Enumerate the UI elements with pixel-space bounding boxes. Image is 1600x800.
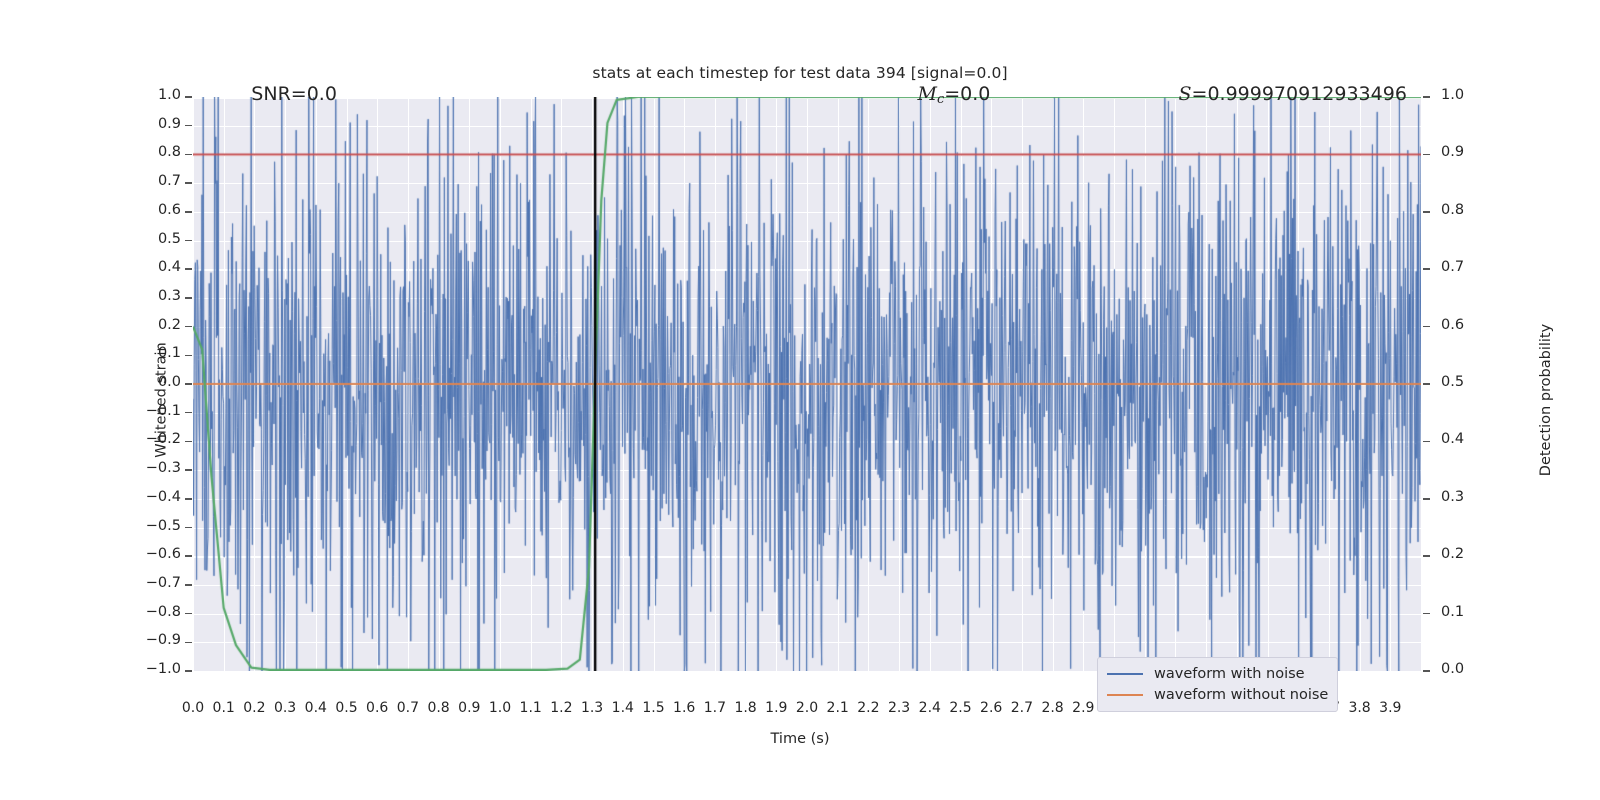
y-axis-left-tick-label: −1.0 <box>146 661 181 677</box>
y-axis-right-tick-label: 0.4 <box>1441 431 1464 447</box>
y-axis-left-tick-label: −0.3 <box>146 460 181 476</box>
y-axis-left-tick-mark <box>185 441 192 443</box>
y-axis-left-tick-mark <box>185 469 192 471</box>
legend-item-waveform-without-noise: waveform without noise <box>1107 684 1328 705</box>
y-axis-left-tick-mark <box>185 211 192 213</box>
y-axis-left-tick-label: 0.7 <box>158 173 181 189</box>
y-axis-left-tick-label: −0.8 <box>146 604 181 620</box>
y-axis-left-tick-mark <box>185 527 192 529</box>
y-axis-left-tick-mark <box>185 498 192 500</box>
y-axis-left-tick-mark <box>185 297 192 299</box>
x-axis-label: Time (s) <box>0 731 1600 747</box>
y-axis-left-label: Whitened strain <box>154 342 170 457</box>
y-axis-left-tick-label: 1.0 <box>158 87 181 103</box>
y-axis-left-tick-label: 0.9 <box>158 116 181 132</box>
x-axis-tick-label: 3.9 <box>1372 700 1408 716</box>
y-axis-left-tick-mark <box>185 383 192 385</box>
y-axis-left-tick-label: −0.6 <box>146 546 181 562</box>
y-axis-left-tick-label: −0.5 <box>146 518 181 534</box>
y-axis-right-label: Detection probability <box>1538 324 1554 476</box>
y-axis-left-tick-label: −0.4 <box>146 489 181 505</box>
y-axis-right-tick-label: 1.0 <box>1441 87 1464 103</box>
legend: waveform with noise waveform without noi… <box>1097 657 1338 712</box>
y-axis-right-tick-mark <box>1423 670 1430 672</box>
y-axis-right-tick-label: 0.3 <box>1441 489 1464 505</box>
page-title: stats at each timestep for test data 394… <box>0 64 1600 82</box>
y-axis-left-tick-mark <box>185 613 192 615</box>
y-axis-left-tick-label: 0.3 <box>158 288 181 304</box>
y-axis-right-tick-mark <box>1423 268 1430 270</box>
y-axis-right-tick-mark <box>1423 326 1430 328</box>
y-axis-right-tick-label: 0.9 <box>1441 144 1464 160</box>
y-axis-right-tick-label: 0.1 <box>1441 604 1464 620</box>
y-axis-right-tick-label: 0.2 <box>1441 546 1464 562</box>
y-axis-left-tick-mark <box>185 154 192 156</box>
figure-root: stats at each timestep for test data 394… <box>0 0 1600 800</box>
y-axis-right-tick-mark <box>1423 383 1430 385</box>
y-axis-left-tick-mark <box>185 182 192 184</box>
y-axis-left-tick-label: 0.8 <box>158 144 181 160</box>
legend-item-waveform-with-noise: waveform with noise <box>1107 663 1328 684</box>
plot-axes: SNR=0.0Mc=0.0S=0.999970912933496 <box>193 97 1421 671</box>
legend-label: waveform with noise <box>1154 666 1305 682</box>
legend-line-icon <box>1107 694 1143 696</box>
y-axis-left-tick-mark <box>185 355 192 357</box>
y-axis-left-tick-mark <box>185 412 192 414</box>
y-axis-left-tick-mark <box>185 125 192 127</box>
y-axis-right-tick-label: 0.7 <box>1441 259 1464 275</box>
y-axis-right-tick-mark <box>1423 498 1430 500</box>
y-axis-left-tick-label: −0.9 <box>146 632 181 648</box>
waveform-plot-canvas <box>193 97 1421 671</box>
y-axis-left-tick-mark <box>185 584 192 586</box>
y-axis-left-tick-mark <box>185 326 192 328</box>
annotation-chirp-mass: Mc=0.0 <box>918 83 991 107</box>
y-axis-left-tick-mark <box>185 670 192 672</box>
annotation-snr: SNR=0.0 <box>251 83 337 105</box>
legend-label: waveform without noise <box>1154 687 1328 703</box>
y-axis-right-tick-label: 0.6 <box>1441 317 1464 333</box>
y-axis-right-tick-mark <box>1423 154 1430 156</box>
y-axis-left-tick-mark <box>185 555 192 557</box>
y-axis-left-tick-mark <box>185 642 192 644</box>
y-axis-right-tick-label: 0.0 <box>1441 661 1464 677</box>
annotation-score: S=0.999970912933496 <box>1179 83 1407 105</box>
y-axis-right-tick-mark <box>1423 441 1430 443</box>
y-axis-right-tick-mark <box>1423 555 1430 557</box>
y-axis-left-tick-label: 0.2 <box>158 317 181 333</box>
y-axis-right-tick-mark <box>1423 613 1430 615</box>
y-axis-left-tick-mark <box>185 240 192 242</box>
y-axis-left-tick-label: 0.4 <box>158 259 181 275</box>
y-axis-right-tick-label: 0.8 <box>1441 202 1464 218</box>
y-axis-right-tick-mark <box>1423 211 1430 213</box>
y-axis-left-tick-mark <box>185 96 192 98</box>
y-axis-left-tick-label: 0.6 <box>158 202 181 218</box>
y-axis-right-tick-label: 0.5 <box>1441 374 1464 390</box>
legend-line-icon <box>1107 673 1143 675</box>
y-axis-right-tick-mark <box>1423 96 1430 98</box>
y-axis-left-tick-label: 0.5 <box>158 231 181 247</box>
y-axis-left-tick-label: −0.7 <box>146 575 181 591</box>
y-axis-left-tick-mark <box>185 268 192 270</box>
